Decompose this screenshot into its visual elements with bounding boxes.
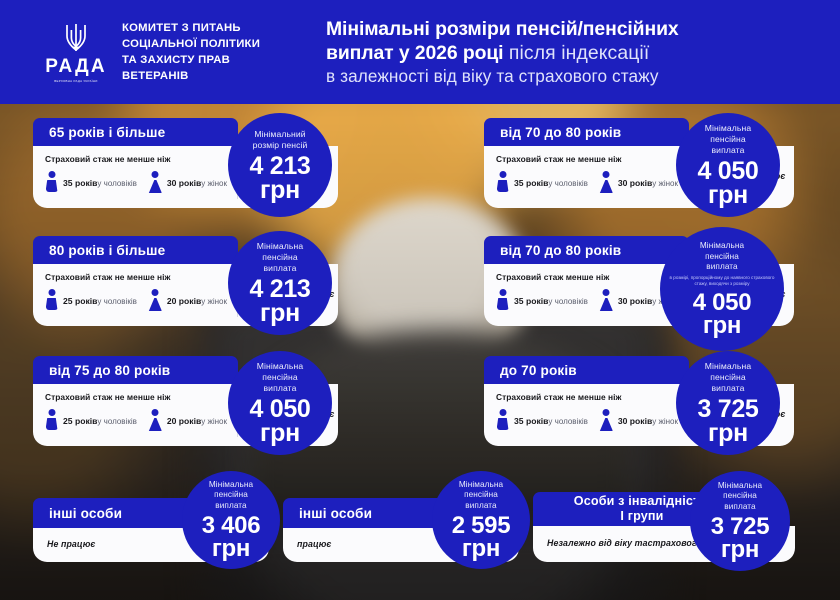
women-years: 20 років [167,416,201,426]
man-icon [45,409,58,431]
insurance-stage-label: Страховий стаж не менше ніж [45,272,227,282]
badge-caption: Мінімальнийрозмір пенсій [253,129,308,151]
card-age-header: від 70 до 80 років [484,236,689,264]
amount-badge: Мінімальнийрозмір пенсій4 213грн [228,113,332,217]
badge-currency: грн [260,421,300,445]
men-label: у чоловіків [97,297,136,306]
persons-row: 35 роківу чоловіків30 роківу жінок [45,171,227,193]
persons-row: 25 роківу чоловіків20 роківу жінок [45,289,227,311]
women-requirement: 30 роківу жінок [600,171,678,193]
women-label: у жінок [201,417,227,426]
badge-caption: Мінімальнапенсійнавиплата [257,241,303,274]
badge-caption: Мінімальнапенсійнавиплата [705,361,751,394]
badge-currency: грн [462,537,500,560]
badge-caption: Мінімальнапенсійнавиплата [459,480,503,512]
women-years: 30 років [618,416,652,426]
insurance-stage-label: Страховий стаж не менше ніж [45,154,227,164]
insurance-stage-label: Страховий стаж не менше ніж [496,392,678,402]
man-icon [496,409,509,431]
men-requirement: 35 роківу чоловіків [496,171,588,193]
man-icon [496,171,509,193]
card-age-header: до 70 років [484,356,689,384]
badge-fine-print: в розмірі, пропорційному до наявного стр… [663,275,781,288]
women-years: 30 років [167,178,201,188]
amount-badge: Мінімальнапенсійнавиплата3 725грн [676,351,780,455]
badge-caption: Мінімальнапенсійнавиплата [700,241,744,273]
men-requirement: 25 роківу чоловіків [45,409,137,431]
insurance-stage-label: Страховий стаж менше ніж [496,272,678,282]
man-icon [45,289,58,311]
card-age-header: 80 років і більше [33,236,238,264]
amount-badge: Мінімальнапенсійнавиплата2 595грн [432,471,530,569]
woman-icon [600,171,613,193]
card-age-header: від 70 до 80 років [484,118,689,146]
men-requirement: 35 роківу чоловіків [496,409,588,431]
card-age-header: 65 років і більше [33,118,238,146]
men-years: 35 років [514,296,548,306]
persons-row: 35 роківу чоловіків30 роківу жінок [496,409,678,431]
woman-icon [149,289,162,311]
badge-amount: 4 213 [249,154,310,178]
women-requirement: 20 роківу жінок [149,409,227,431]
insurance-stage-block: Страховий стаж не менше ніж35 роківу чол… [484,146,688,208]
badge-caption: Мінімальнапенсійнавиплата [209,480,253,512]
men-years: 35 років [514,178,548,188]
insurance-stage-label: Страховий стаж не менше ніж [45,392,227,402]
amount-badge: Мінімальнапенсійнавиплата4 213грн [228,231,332,335]
insurance-stage-block: Страховий стаж менше ніж35 роківу чолові… [484,264,688,326]
insurance-stage-block: Страховий стаж не менше ніж35 роківу чол… [33,146,237,208]
men-label: у чоловіків [548,179,587,188]
persons-row: 35 роківу чоловіків30 роківу жінок [496,289,678,311]
badge-caption: Мінімальнапенсійнавиплата [718,481,762,513]
man-icon [496,289,509,311]
amount-badge: Мінімальнапенсійнавиплатав розмірі, проп… [660,227,784,351]
badge-amount: 3 725 [697,397,758,421]
women-label: у жінок [652,417,678,426]
women-label: у жінок [652,179,678,188]
badge-amount: 4 050 [693,291,752,314]
amount-badge: Мінімальнапенсійнавиплата4 050грн [228,351,332,455]
men-label: у чоловіків [97,179,136,188]
woman-icon [149,409,162,431]
men-years: 25 років [63,416,97,426]
men-requirement: 35 роківу чоловіків [45,171,137,193]
woman-icon [149,171,162,193]
badge-currency: грн [708,421,748,445]
persons-row: 25 роківу чоловіків20 роківу жінок [45,409,227,431]
women-label: у жінок [201,179,227,188]
insurance-stage-block: Страховий стаж не менше ніж25 роківу чол… [33,264,237,326]
man-icon [45,171,58,193]
badge-currency: грн [260,301,300,325]
men-label: у чоловіків [548,297,587,306]
badge-amount: 4 050 [697,159,758,183]
badge-currency: грн [721,538,759,561]
women-label: у жінок [201,297,227,306]
women-requirement: 30 роківу жінок [600,409,678,431]
men-requirement: 35 роківу чоловіків [496,289,588,311]
persons-row: 35 роківу чоловіків30 роківу жінок [496,171,678,193]
men-requirement: 25 роківу чоловіків [45,289,137,311]
insurance-stage-block: Страховий стаж не менше ніж25 роківу чол… [33,384,237,446]
badge-currency: грн [212,537,250,560]
women-requirement: 30 роківу жінок [149,171,227,193]
amount-badge: Мінімальнапенсійнавиплата3 725грн [690,471,790,571]
badge-currency: грн [260,178,300,202]
women-requirement: 20 роківу жінок [149,289,227,311]
card-age-header: від 75 до 80 років [33,356,238,384]
insurance-stage-label: Страховий стаж не менше ніж [496,154,678,164]
men-years: 25 років [63,296,97,306]
badge-amount: 2 595 [452,514,511,537]
insurance-stage-block: Страховий стаж не менше ніж35 роківу чол… [484,384,688,446]
men-label: у чоловіків [548,417,587,426]
badge-currency: грн [703,314,741,337]
women-years: 30 років [618,178,652,188]
women-years: 30 років [618,296,652,306]
badge-amount: 3 725 [711,515,770,538]
woman-icon [600,409,613,431]
badge-amount: 4 050 [249,397,310,421]
badge-amount: 4 213 [249,277,310,301]
amount-badge: Мінімальнапенсійнавиплата3 406грн [182,471,280,569]
amount-badge: Мінімальнапенсійнавиплата4 050грн [676,113,780,217]
women-years: 20 років [167,296,201,306]
men-label: у чоловіків [97,417,136,426]
men-years: 35 років [514,416,548,426]
woman-icon [600,289,613,311]
badge-caption: Мінімальнапенсійнавиплата [257,361,303,394]
badge-currency: грн [708,183,748,207]
cards-area: 65 років і більшеСтраховий стаж не менше… [0,0,840,600]
badge-caption: Мінімальнапенсійнавиплата [705,123,751,156]
men-years: 35 років [63,178,97,188]
badge-amount: 3 406 [202,514,261,537]
